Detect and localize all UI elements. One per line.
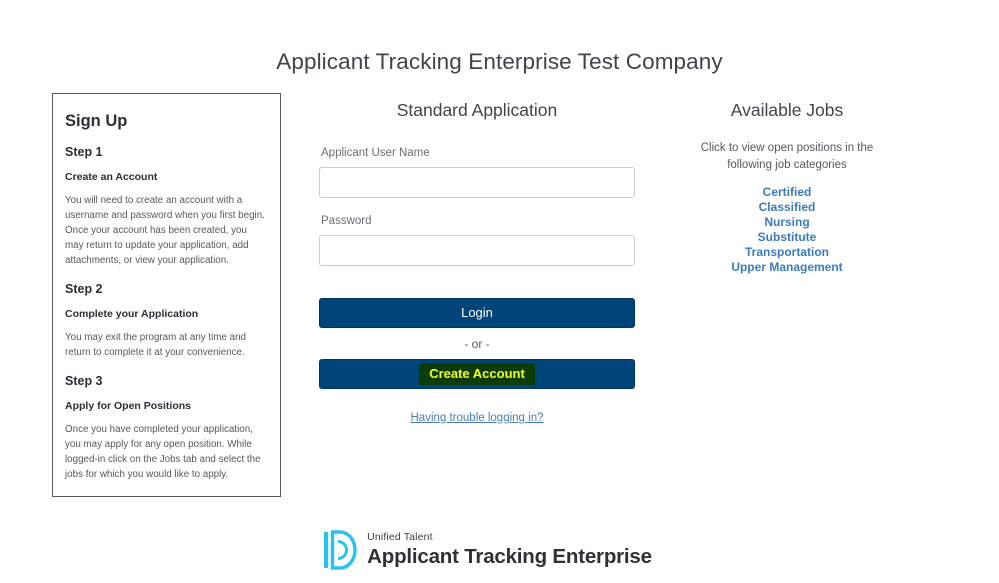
step-2-label: Step 2 bbox=[65, 283, 268, 297]
footer-tagline: Unified Talent bbox=[367, 532, 652, 543]
available-jobs-intro: Click to view open positions in the foll… bbox=[676, 140, 898, 173]
available-jobs-column: Available Jobs Click to view open positi… bbox=[676, 93, 898, 275]
step-3-label: Step 3 bbox=[65, 375, 268, 389]
password-input[interactable] bbox=[319, 235, 635, 266]
step-1-body: You will need to create an account with … bbox=[65, 194, 268, 268]
footer-logo-text: Unified Talent Applicant Tracking Enterp… bbox=[367, 532, 652, 568]
signup-step-2: Step 2 Complete your Application You may… bbox=[65, 283, 268, 361]
unified-talent-p-logo-icon bbox=[323, 529, 357, 571]
job-category-upper-management[interactable]: Upper Management bbox=[676, 260, 898, 275]
login-heading: Standard Application bbox=[319, 100, 635, 121]
or-separator: - or - bbox=[319, 337, 635, 351]
step-3-body: Once you have completed your application… bbox=[65, 423, 268, 483]
signup-panel: Sign Up Step 1 Create an Account You wil… bbox=[52, 93, 281, 497]
password-label: Password bbox=[321, 215, 635, 229]
step-2-body: You may exit the program at any time and… bbox=[65, 331, 268, 361]
step-2-title: Complete your Application bbox=[65, 309, 268, 321]
footer-logo-lockup: Unified Talent Applicant Tracking Enterp… bbox=[323, 529, 652, 571]
page-title: Applicant Tracking Enterprise Test Compa… bbox=[0, 0, 999, 75]
job-category-nursing[interactable]: Nursing bbox=[676, 215, 898, 230]
signup-heading: Sign Up bbox=[65, 112, 268, 130]
job-category-substitute[interactable]: Substitute bbox=[676, 230, 898, 245]
signup-step-3: Step 3 Apply for Open Positions Once you… bbox=[65, 375, 268, 483]
username-label: Applicant User Name bbox=[321, 147, 635, 161]
trouble-link-wrap: Having trouble logging in? bbox=[319, 408, 635, 426]
step-3-title: Apply for Open Positions bbox=[65, 401, 268, 413]
footer: Unified Talent Applicant Tracking Enterp… bbox=[0, 529, 999, 571]
available-jobs-heading: Available Jobs bbox=[676, 100, 898, 121]
job-category-classified[interactable]: Classified bbox=[676, 200, 898, 215]
footer-product-name: Applicant Tracking Enterprise bbox=[367, 546, 652, 568]
step-1-label: Step 1 bbox=[65, 146, 268, 160]
trouble-logging-in-link[interactable]: Having trouble logging in? bbox=[411, 412, 544, 424]
job-category-certified[interactable]: Certified bbox=[676, 185, 898, 200]
step-1-title: Create an Account bbox=[65, 172, 268, 184]
signup-column: Sign Up Step 1 Create an Account You wil… bbox=[52, 93, 281, 497]
login-column: Standard Application Applicant User Name… bbox=[319, 93, 635, 426]
job-category-list: Certified Classified Nursing Substitute … bbox=[676, 185, 898, 274]
login-button[interactable]: Login bbox=[319, 298, 635, 328]
create-account-label-highlighted: Create Account bbox=[419, 363, 535, 385]
create-account-button[interactable]: Create Account bbox=[319, 359, 635, 389]
username-input[interactable] bbox=[319, 167, 635, 198]
signup-step-1: Step 1 Create an Account You will need t… bbox=[65, 146, 268, 269]
job-category-transportation[interactable]: Transportation bbox=[676, 245, 898, 260]
